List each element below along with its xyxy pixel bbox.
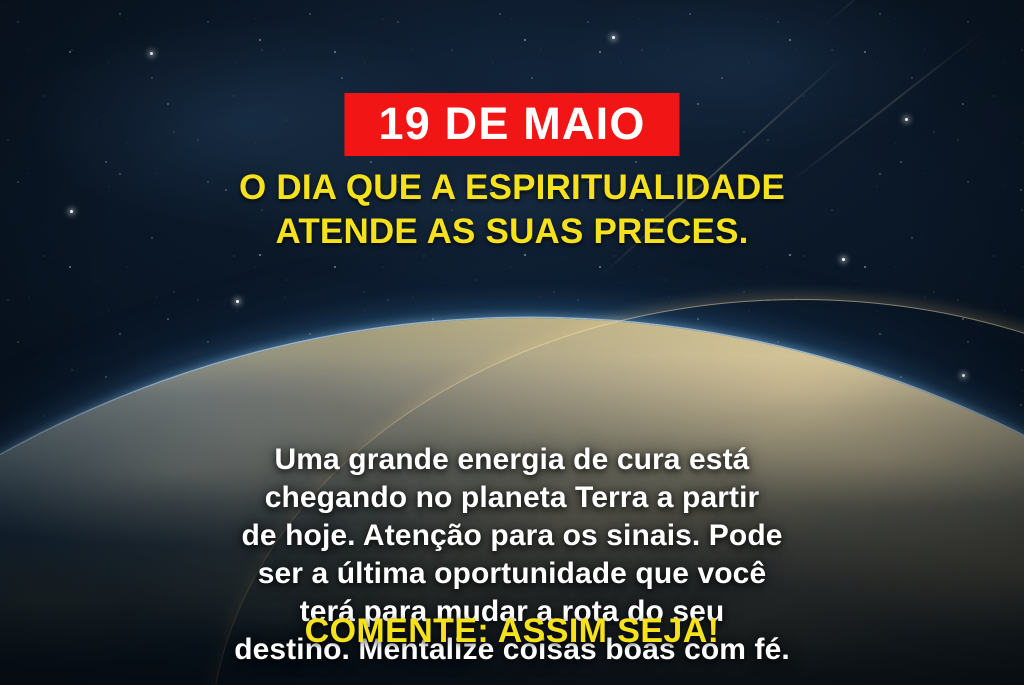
body-line: chegando no planeta Terra a partir — [58, 479, 966, 517]
call-to-action: COMENTE: ASSIM SEJA! — [0, 612, 1024, 651]
date-banner-label: 19 DE MAIO — [378, 101, 645, 146]
headline-line-2: ATENDE AS SUAS PRECES. — [44, 210, 980, 254]
poster-content: 19 DE MAIO O DIA QUE A ESPIRITUALIDADE A… — [0, 0, 1024, 685]
headline: O DIA QUE A ESPIRITUALIDADE ATENDE AS SU… — [0, 166, 1024, 254]
body-line: ser a última oportunidade que você — [58, 555, 966, 593]
headline-line-1: O DIA QUE A ESPIRITUALIDADE — [239, 168, 785, 207]
body-line: Uma grande energia de cura está — [58, 441, 966, 479]
body-line: de hoje. Atenção para os sinais. Pode — [58, 517, 966, 555]
poster-canvas: 19 DE MAIO O DIA QUE A ESPIRITUALIDADE A… — [0, 0, 1024, 685]
date-banner: 19 DE MAIO — [344, 93, 679, 156]
